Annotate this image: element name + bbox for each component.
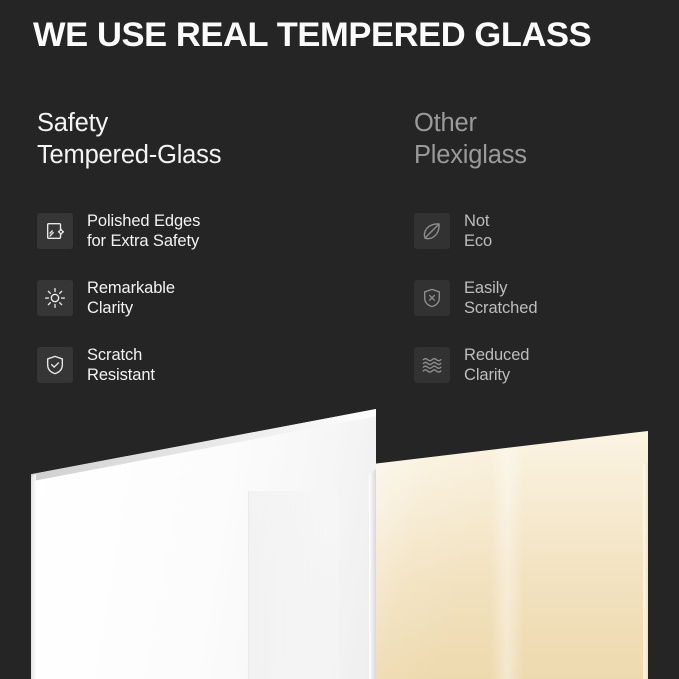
comparison-column-tempered-glass: Safety Tempered-Glass Polished Edges for… (37, 108, 397, 172)
product-comparison-photo (0, 398, 679, 679)
feature-label: Easily Scratched (464, 278, 537, 318)
tempered-glass-comparison-infographic: WE USE REAL TEMPERED GLASS Safety Temper… (0, 0, 679, 679)
feature-list-plexiglass: Not Eco Easily Scratched (414, 213, 679, 383)
feature-item: Not Eco (414, 213, 679, 249)
wavy-lines-icon (414, 347, 450, 383)
leaf-crossed-out-icon (414, 213, 450, 249)
feature-label: Scratch Resistant (87, 345, 155, 385)
feature-list-tempered-glass: Polished Edges for Extra Safety Remarkab… (37, 213, 397, 383)
feature-label: Reduced Clarity (464, 345, 529, 385)
feature-label: Not Eco (464, 211, 492, 251)
column-heading-tempered-glass: Safety Tempered-Glass (37, 108, 397, 172)
sun-brightness-icon (37, 280, 73, 316)
tempered-glass-left-edge (31, 474, 36, 679)
plexiglass-panel-edge (643, 431, 648, 679)
feature-item: Scratch Resistant (37, 347, 397, 383)
plexiglass-panel (366, 431, 648, 679)
polished-edge-sparkle-icon (37, 213, 73, 249)
tempered-glass-panel (31, 409, 376, 679)
page-title: WE USE REAL TEMPERED GLASS (33, 17, 653, 55)
feature-item: Polished Edges for Extra Safety (37, 213, 397, 249)
feature-item: Remarkable Clarity (37, 280, 397, 316)
shield-check-icon (37, 347, 73, 383)
feature-item: Easily Scratched (414, 280, 679, 316)
feature-label: Polished Edges for Extra Safety (87, 211, 200, 251)
comparison-column-plexiglass: Other Plexiglass Not Eco (414, 108, 679, 172)
shield-x-icon (414, 280, 450, 316)
column-heading-plexiglass: Other Plexiglass (414, 108, 679, 172)
feature-label: Remarkable Clarity (87, 278, 175, 318)
feature-item: Reduced Clarity (414, 347, 679, 383)
